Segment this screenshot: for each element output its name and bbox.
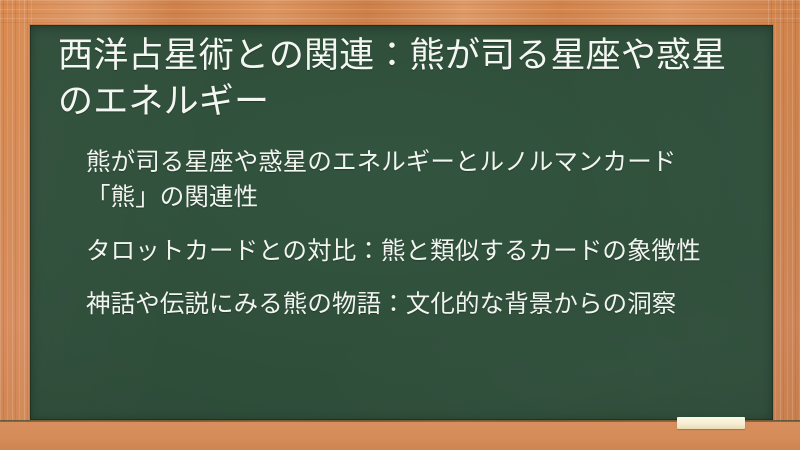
list-item: タロットカードとの対比：熊と類似するカードの象徴性 xyxy=(86,235,723,270)
chalk-stick xyxy=(677,417,745,429)
chalkboard-slide: 西洋占星術との関連：熊が司る星座や惑星のエネルギー 熊が司る星座や惑星のエネルギ… xyxy=(0,0,800,450)
topic-list: 熊が司る星座や惑星のエネルギーとルノルマンカード「熊」の関連性 タロットカードと… xyxy=(58,146,737,323)
chalkboard-surface: 西洋占星術との関連：熊が司る星座や惑星のエネルギー 熊が司る星座や惑星のエネルギ… xyxy=(30,25,773,420)
page-title: 西洋占星術との関連：熊が司る星座や惑星のエネルギー xyxy=(58,29,737,124)
frame-grain-left xyxy=(0,0,32,450)
list-item: 神話や伝説にみる熊の物語：文化的な背景からの洞察 xyxy=(86,288,723,323)
frame-grain-top xyxy=(0,0,800,26)
chalkboard-content: 西洋占星術との関連：熊が司る星座や惑星のエネルギー 熊が司る星座や惑星のエネルギ… xyxy=(30,25,773,420)
list-item: 熊が司る星座や惑星のエネルギーとルノルマンカード「熊」の関連性 xyxy=(86,146,723,216)
